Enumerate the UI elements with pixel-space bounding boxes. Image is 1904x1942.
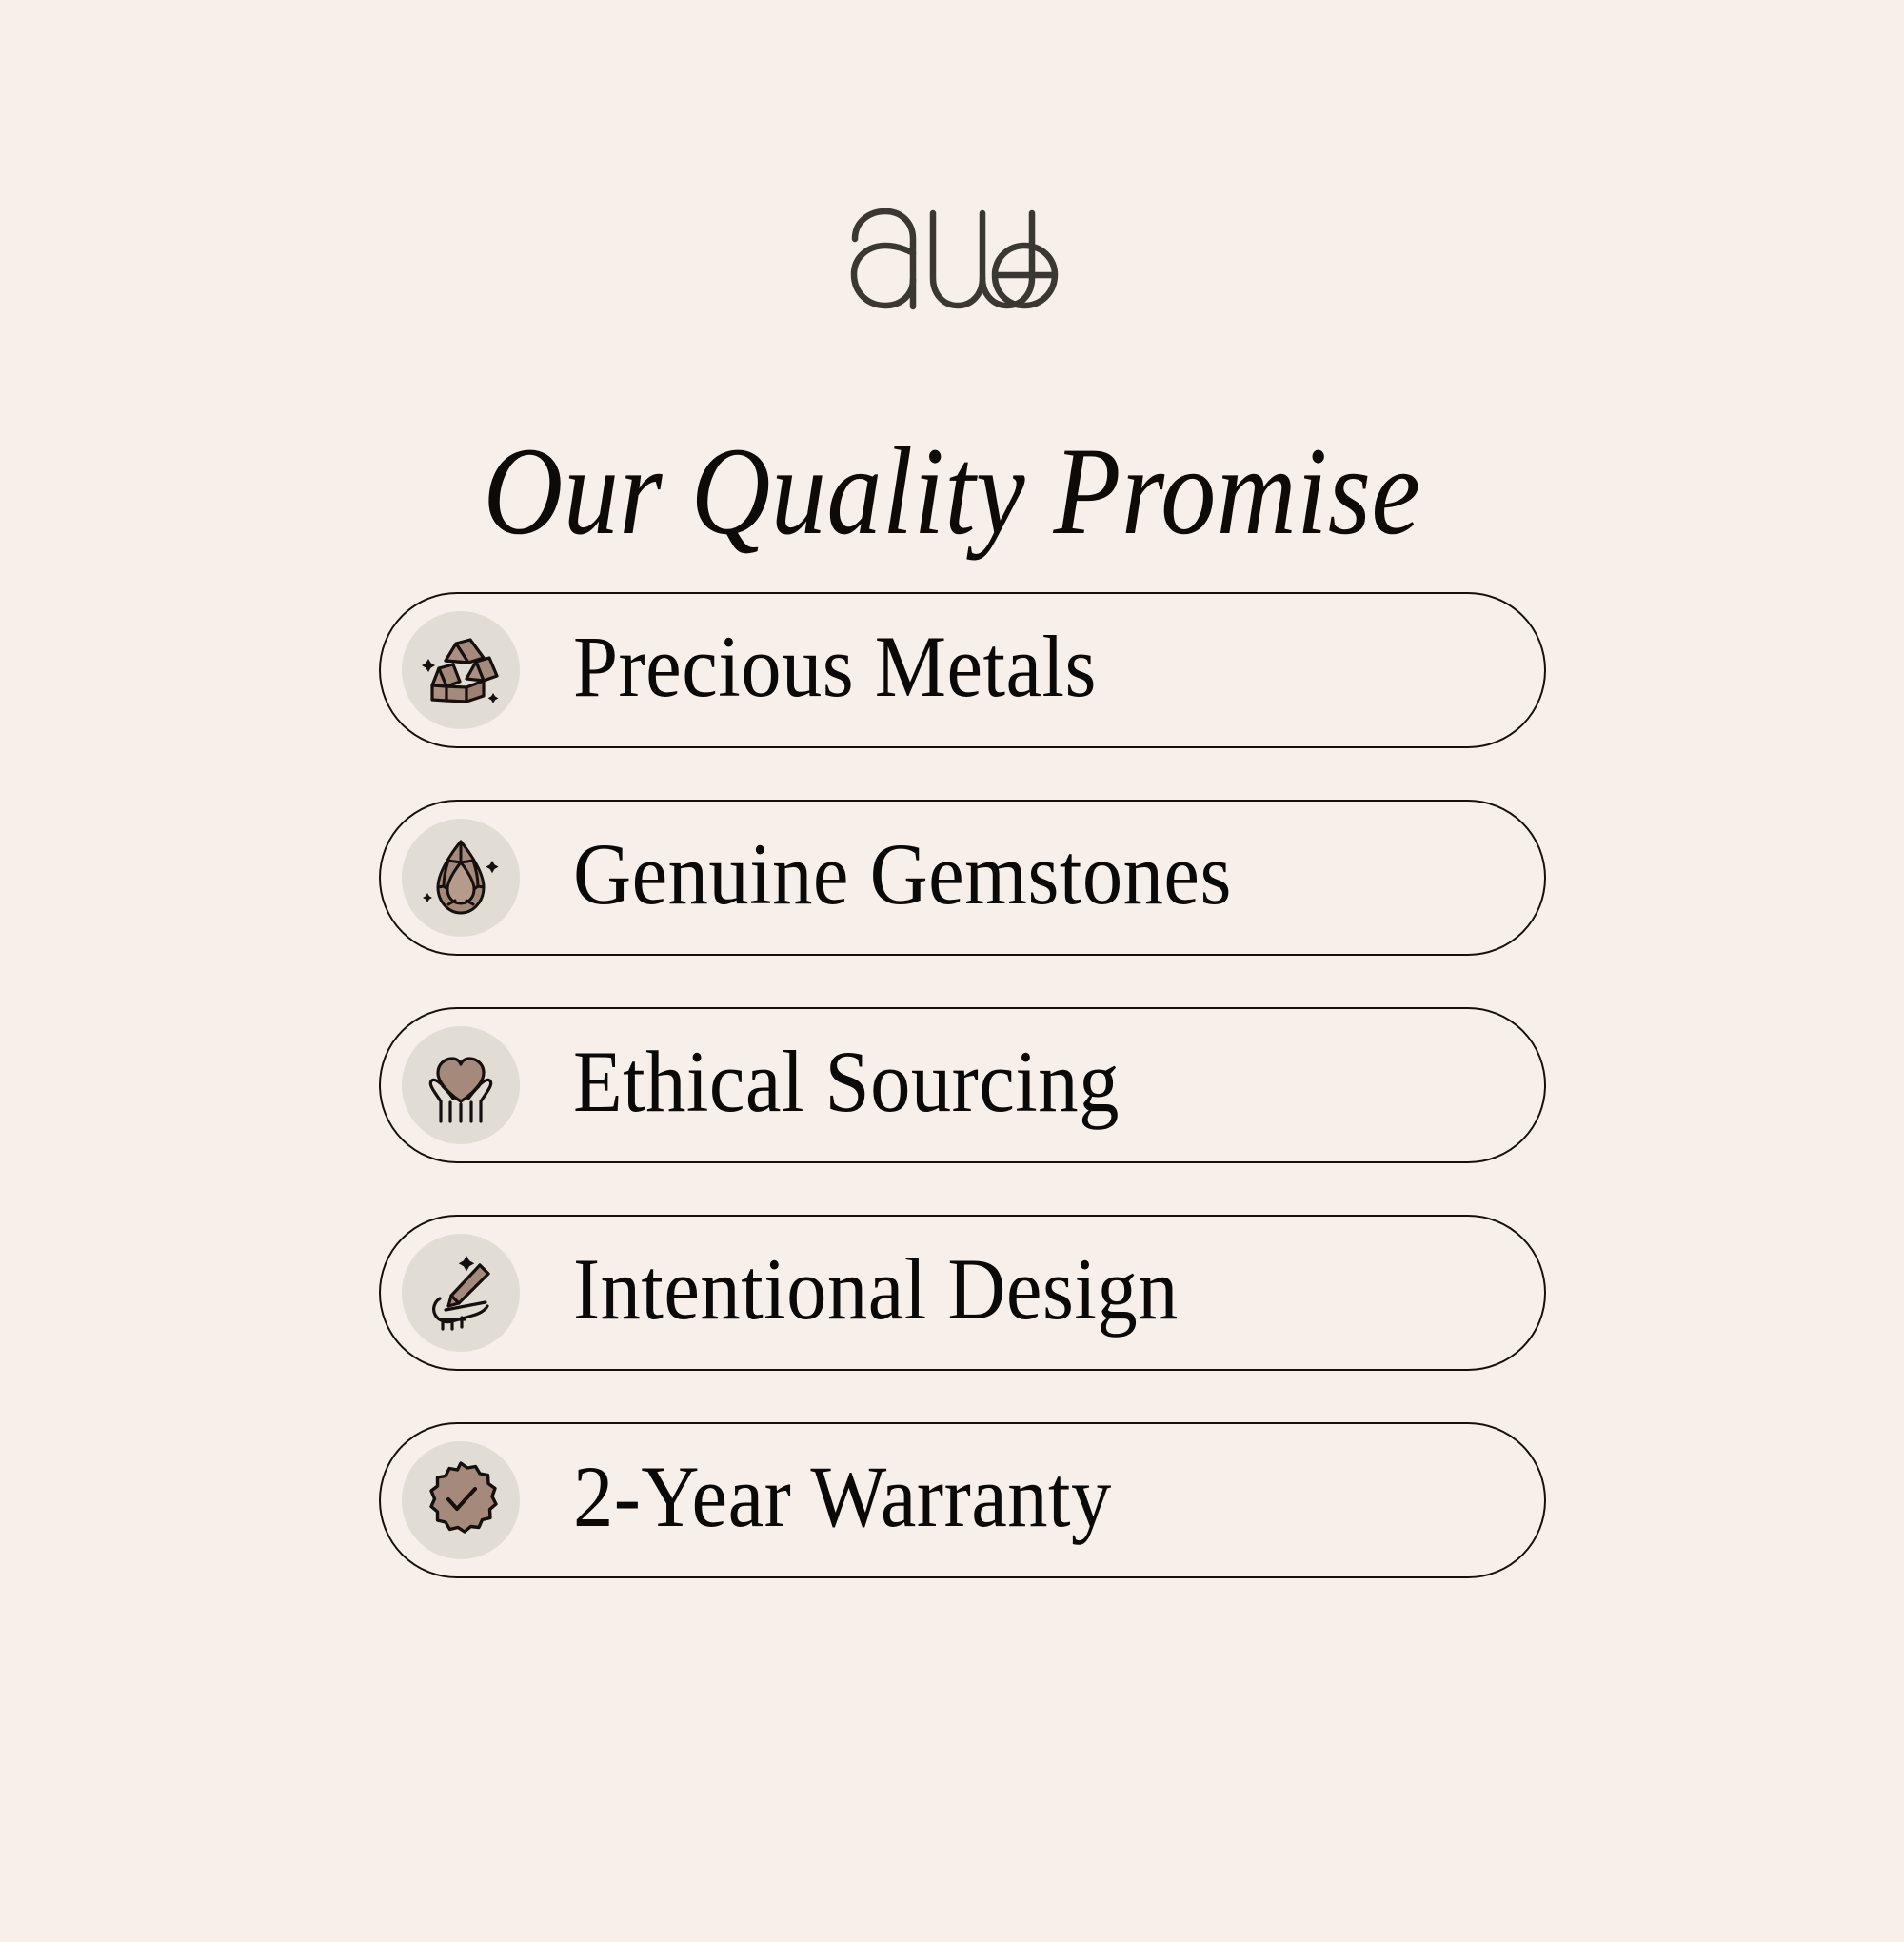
heart-in-hands-icon	[402, 1026, 520, 1144]
promise-label: Genuine Gemstones	[573, 830, 1232, 918]
promise-row-intentional-design[interactable]: Intentional Design	[379, 1215, 1546, 1371]
gemstone-icon	[402, 819, 520, 937]
page-title: Our Quality Promise	[114, 428, 1790, 554]
hand-with-pen-icon	[402, 1234, 520, 1352]
quality-promise-list: Precious Metals	[379, 592, 1546, 1578]
brand-logo	[0, 208, 1904, 331]
gold-bars-icon	[402, 611, 520, 729]
promise-label: Precious Metals	[573, 623, 1097, 710]
promise-row-warranty[interactable]: 2-Year Warranty	[379, 1422, 1546, 1578]
promise-row-precious-metals[interactable]: Precious Metals	[379, 592, 1546, 748]
promise-row-ethical-sourcing[interactable]: Ethical Sourcing	[379, 1007, 1546, 1163]
promise-label: Ethical Sourcing	[573, 1038, 1120, 1125]
awe-wordmark-logo	[842, 208, 1062, 312]
promise-label: Intentional Design	[573, 1245, 1179, 1333]
promise-row-genuine-gemstones[interactable]: Genuine Gemstones	[379, 800, 1546, 956]
verified-badge-icon	[402, 1441, 520, 1559]
quality-promise-page: Our Quality Promise	[0, 0, 1904, 1942]
promise-label: 2-Year Warranty	[573, 1453, 1112, 1540]
